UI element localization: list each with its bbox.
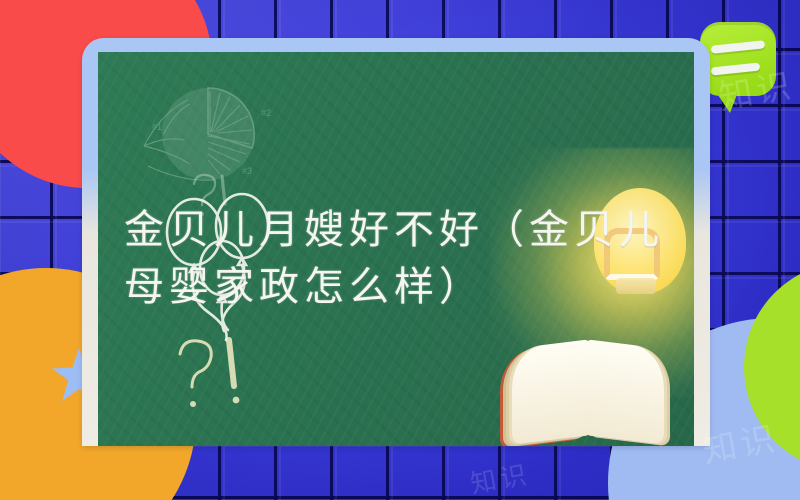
question-exclaim-doodle-bottom-icon bbox=[172, 334, 258, 420]
svg-text:#3: #3 bbox=[242, 166, 252, 176]
speech-bubble-line-2 bbox=[711, 62, 761, 75]
svg-text:#1: #1 bbox=[152, 122, 162, 132]
speech-bubble-line-1 bbox=[711, 40, 766, 54]
svg-text:#2: #2 bbox=[261, 108, 271, 118]
book-left-page bbox=[512, 339, 590, 445]
chalkboard-title-text: 金贝儿月嫂好不好（金贝儿母婴家政怎么样） bbox=[124, 202, 684, 316]
speech-bubble-icon bbox=[700, 22, 776, 96]
chalkboard-surface: #1 #2 #3 bbox=[98, 52, 694, 446]
book-right-page bbox=[586, 339, 664, 445]
cover-image-canvas: #1 #2 #3 bbox=[0, 0, 800, 500]
open-book-icon bbox=[512, 322, 668, 440]
speech-bubble-tail bbox=[714, 89, 739, 113]
